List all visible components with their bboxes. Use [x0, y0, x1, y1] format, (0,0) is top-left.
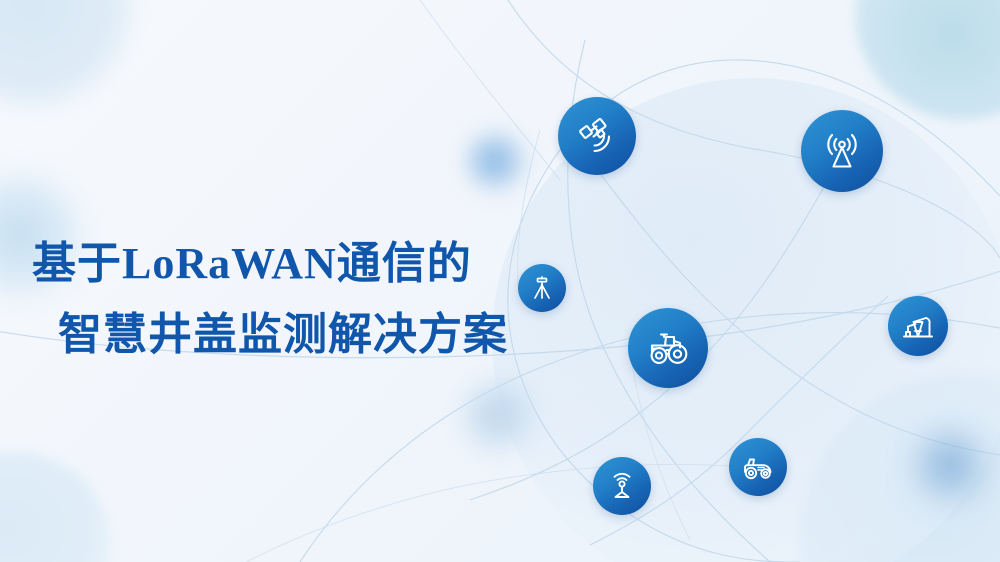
- title-line-secondary: 智慧井盖监测解决方案: [32, 299, 552, 370]
- oil-pumpjack-icon: [899, 307, 937, 345]
- background-blob-bottom-left: [0, 452, 112, 562]
- node-radio-tower[interactable]: [801, 110, 883, 192]
- node-satellite[interactable]: [558, 97, 636, 175]
- background-blob-top-left: [0, 0, 140, 115]
- background-dot-bottom-right: [905, 420, 995, 510]
- robotic-mower-icon: [739, 448, 777, 486]
- background-dot-lower: [455, 372, 541, 458]
- presentation-slide: 基于LoRaWAN通信的 智慧井盖监测解决方案: [0, 0, 1000, 562]
- wireless-sensor-icon: [604, 468, 640, 504]
- node-tractor[interactable]: [628, 308, 708, 388]
- background-blob-bottom-right: [800, 372, 1000, 562]
- slide-title: 基于LoRaWAN通信的 智慧井盖监测解决方案: [32, 228, 552, 371]
- title-line-primary: 基于LoRaWAN通信的: [32, 228, 552, 299]
- node-wireless-sensor[interactable]: [593, 457, 651, 515]
- radio-tower-icon: [818, 127, 866, 175]
- background-dot-center: [462, 128, 528, 194]
- background-blob-top-right: [855, 0, 1000, 120]
- node-oil-pumpjack[interactable]: [888, 296, 948, 356]
- tractor-icon: [643, 323, 693, 373]
- satellite-dish-icon: [574, 113, 620, 159]
- node-robotic-mower[interactable]: [729, 438, 787, 496]
